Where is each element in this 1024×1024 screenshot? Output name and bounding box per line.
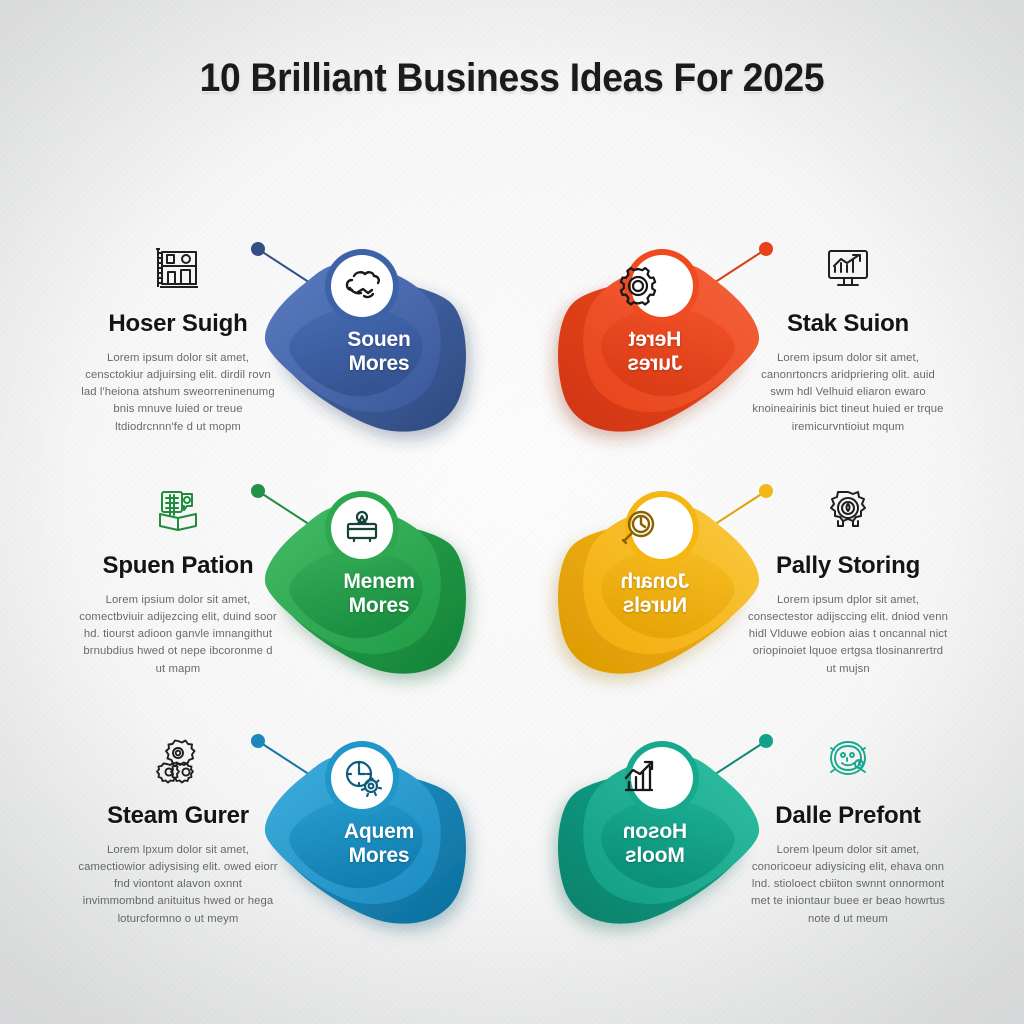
item-body: Lorem ipsum dolor sit amet, censctokiur … — [78, 350, 278, 436]
item-body: Lorem ipsium dolor sit amet, comectbviui… — [78, 592, 278, 678]
target-gear-icon — [748, 482, 948, 538]
infographic-item-middle-left[interactable]: Spuen Pation Lorem ipsium dolor sit amet… — [52, 474, 512, 710]
infographic-row-2: Spuen Pation Lorem ipsium dolor sit amet… — [0, 474, 1024, 710]
item-body: Lorem ipsum dolor sit amet, canonrtoncrs… — [748, 350, 948, 436]
infographic-row-3: Steam Gurer Lorem lpxum dolor sit amet, … — [0, 724, 1024, 960]
item-heading: Dalle Prefont — [748, 802, 948, 830]
infographic-row-1: Hoser Suigh Lorem ipsum dolor sit amet, … — [0, 232, 1024, 468]
infographic-item-bottom-left[interactable]: Steam Gurer Lorem lpxum dolor sit amet, … — [52, 724, 512, 960]
item-heading: Stak Suion — [748, 310, 948, 338]
infographic-item-bottom-right[interactable]: Dalle Prefont Lorem lpeum dolor sit amet… — [512, 724, 972, 960]
badge-shape[interactable]: Hoson Mools — [534, 728, 766, 956]
badge-shape[interactable]: Aquem Mores — [258, 728, 490, 956]
monitor-chart-icon — [748, 240, 948, 296]
badge-shape[interactable]: Heret Jures — [534, 236, 766, 464]
item-body: Lorem ipsum dplor sit amet, consectestor… — [748, 592, 948, 678]
badge-shape[interactable]: Souen Mores — [258, 236, 490, 464]
page-title: 10 Brilliant Business Ideas For 2025 — [36, 56, 988, 101]
infographic-item-middle-right[interactable]: Pally Storing Lorem ipsum dplor sit amet… — [512, 474, 972, 710]
ai-head-icon — [748, 732, 948, 788]
item-body: Lorem lpeum dolor sit amet, conoricoeur … — [748, 842, 948, 928]
item-body: Lorem lpxum dolor sit amet, camectiowior… — [78, 842, 278, 928]
item-heading: Pally Storing — [748, 552, 948, 580]
badge-shape[interactable]: Menem Mores — [258, 478, 490, 706]
infographic-item-top-left[interactable]: Hoser Suigh Lorem ipsum dolor sit amet, … — [52, 232, 512, 468]
text-block: Pally Storing Lorem ipsum dplor sit amet… — [748, 482, 948, 678]
badge-shape[interactable]: Jonarh Nurels — [534, 478, 766, 706]
text-block: Stak Suion Lorem ipsum dolor sit amet, c… — [748, 240, 948, 436]
text-block: Dalle Prefont Lorem lpeum dolor sit amet… — [748, 732, 948, 928]
infographic-item-top-right[interactable]: Stak Suion Lorem ipsum dolor sit amet, c… — [512, 232, 972, 468]
